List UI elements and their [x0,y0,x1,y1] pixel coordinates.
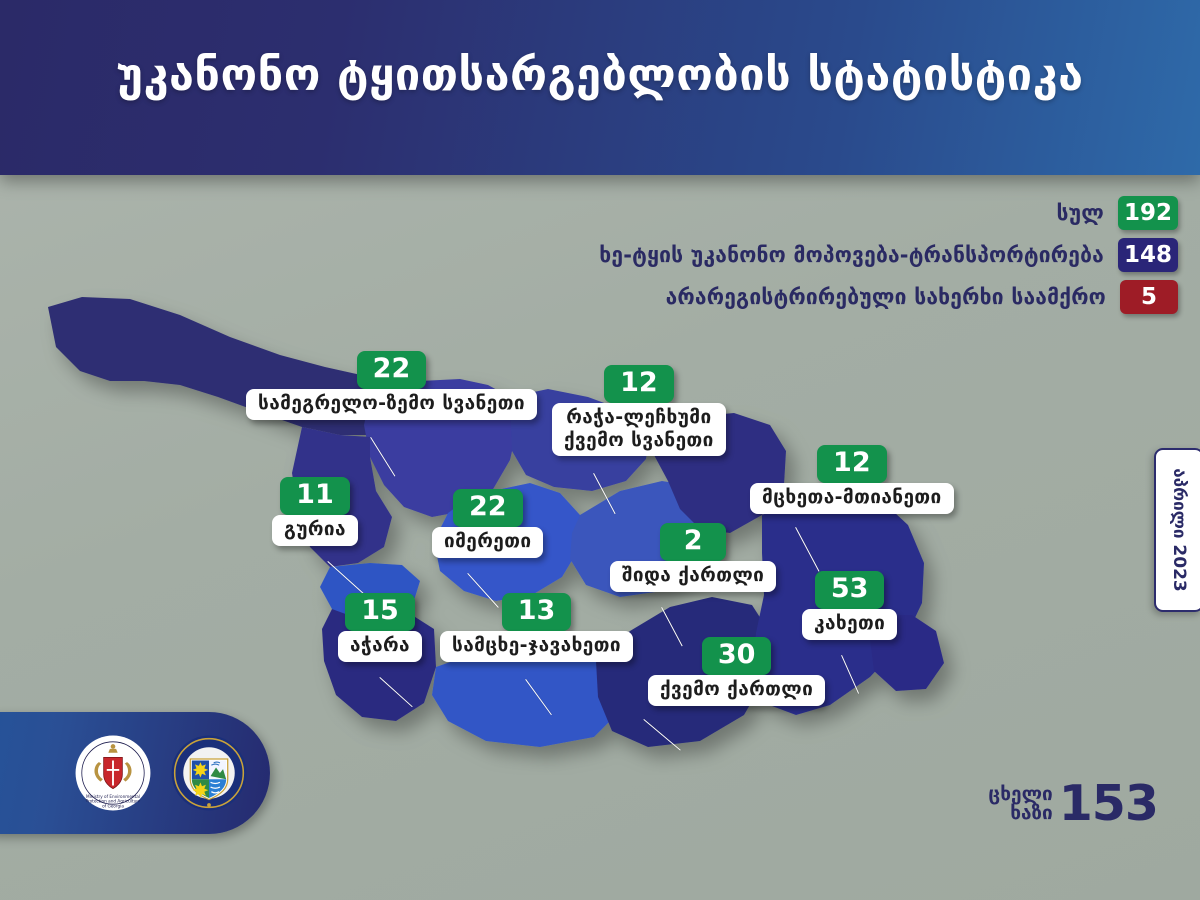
svg-text:of Georgia: of Georgia [102,803,124,808]
marker-value-samtskhe: 13 [502,593,572,631]
marker-value-mtskheta: 12 [817,445,887,483]
legend-chip-total: 192 [1118,196,1178,230]
marker-label-kakheti: კახეთი [802,609,897,639]
hotline-label-line2: ხაზი [988,804,1052,823]
legend-row-illegal-logging: ხე-ტყის უკანონო მოპოვება-ტრანსპორტირება … [418,238,1178,272]
legend-row-total: სულ 192 [418,196,1178,230]
marker-label-adjara: აჭარა [338,631,422,661]
marker-racha[interactable]: 12 რაჭა-ლეჩხუმიქვემო სვანეთი [552,365,726,456]
hotline-number: 153 [1059,782,1158,826]
header-banner: უკანონო ტყითსარგებლობის სტატისტიკა [0,0,1200,175]
marker-mtskheta[interactable]: 12 მცხეთა-მთიანეთი [750,445,954,514]
marker-value-kvemo: 30 [702,637,772,675]
marker-value-adjara: 15 [345,593,415,631]
hotline: ცხელი ხაზი 153 [988,782,1158,826]
marker-shida[interactable]: 2 შიდა ქართლი [610,523,776,592]
map-region-samtskhe [432,649,618,747]
marker-label-imereti: იმერეთი [432,527,543,557]
legend-label-illegal-logging: ხე-ტყის უკანონო მოპოვება-ტრანსპორტირება [599,243,1104,267]
marker-label-kvemo: ქვემო ქართლი [648,675,825,705]
marker-value-shida: 2 [660,523,726,561]
marker-adjara[interactable]: 15 აჭარა [338,593,422,662]
marker-label-samtskhe: სამცხე-ჯავახეთი [440,631,633,661]
marker-samegrelo[interactable]: 22 სამეგრელო-ზემო სვანეთი [246,351,537,420]
marker-value-kakheti: 53 [815,571,885,609]
ministry-emblem-icon: Ministry of Environmental Protection and… [74,734,152,812]
marker-label-racha: რაჭა-ლეჩხუმიქვემო სვანეთი [552,403,726,456]
marker-value-guria: 11 [280,477,350,515]
marker-value-samegrelo: 22 [357,351,427,389]
logo-pill: Ministry of Environmental Protection and… [0,712,270,834]
legend-chip-illegal-logging: 148 [1118,238,1178,272]
marker-imereti[interactable]: 22 იმერეთი [432,489,543,558]
marker-label-samegrelo: სამეგრელო-ზემო სვანეთი [246,389,537,419]
environmental-supervision-emblem-icon [170,734,248,812]
marker-label-shida: შიდა ქართლი [610,561,776,591]
marker-samtskhe[interactable]: 13 სამცხე-ჯავახეთი [440,593,633,662]
hotline-label: ცხელი ხაზი [988,785,1052,824]
marker-label-guria: გურია [272,515,358,545]
marker-kakheti[interactable]: 53 კახეთი [802,571,897,640]
marker-guria[interactable]: 11 გურია [272,477,358,546]
marker-kvemo[interactable]: 30 ქვემო ქართლი [648,637,825,706]
marker-label-mtskheta: მცხეთა-მთიანეთი [750,483,954,513]
date-tab-label: აპრილი 2023 [1169,468,1189,591]
marker-value-racha: 12 [604,365,674,403]
georgia-map: 22 სამეგრელო-ზემო სვანეთი 12 რაჭა-ლეჩხუმ… [40,285,1000,775]
page-title: უკანონო ტყითსარგებლობის სტატისტიკა [0,48,1200,101]
infographic-root: უკანონო ტყითსარგებლობის სტატისტიკა სულ 1… [0,0,1200,900]
marker-value-imereti: 22 [453,489,523,527]
legend-label-total: სულ [1056,201,1104,225]
date-tab: აპრილი 2023 [1154,448,1200,612]
legend-chip-unregistered-sawmill: 5 [1120,280,1178,314]
